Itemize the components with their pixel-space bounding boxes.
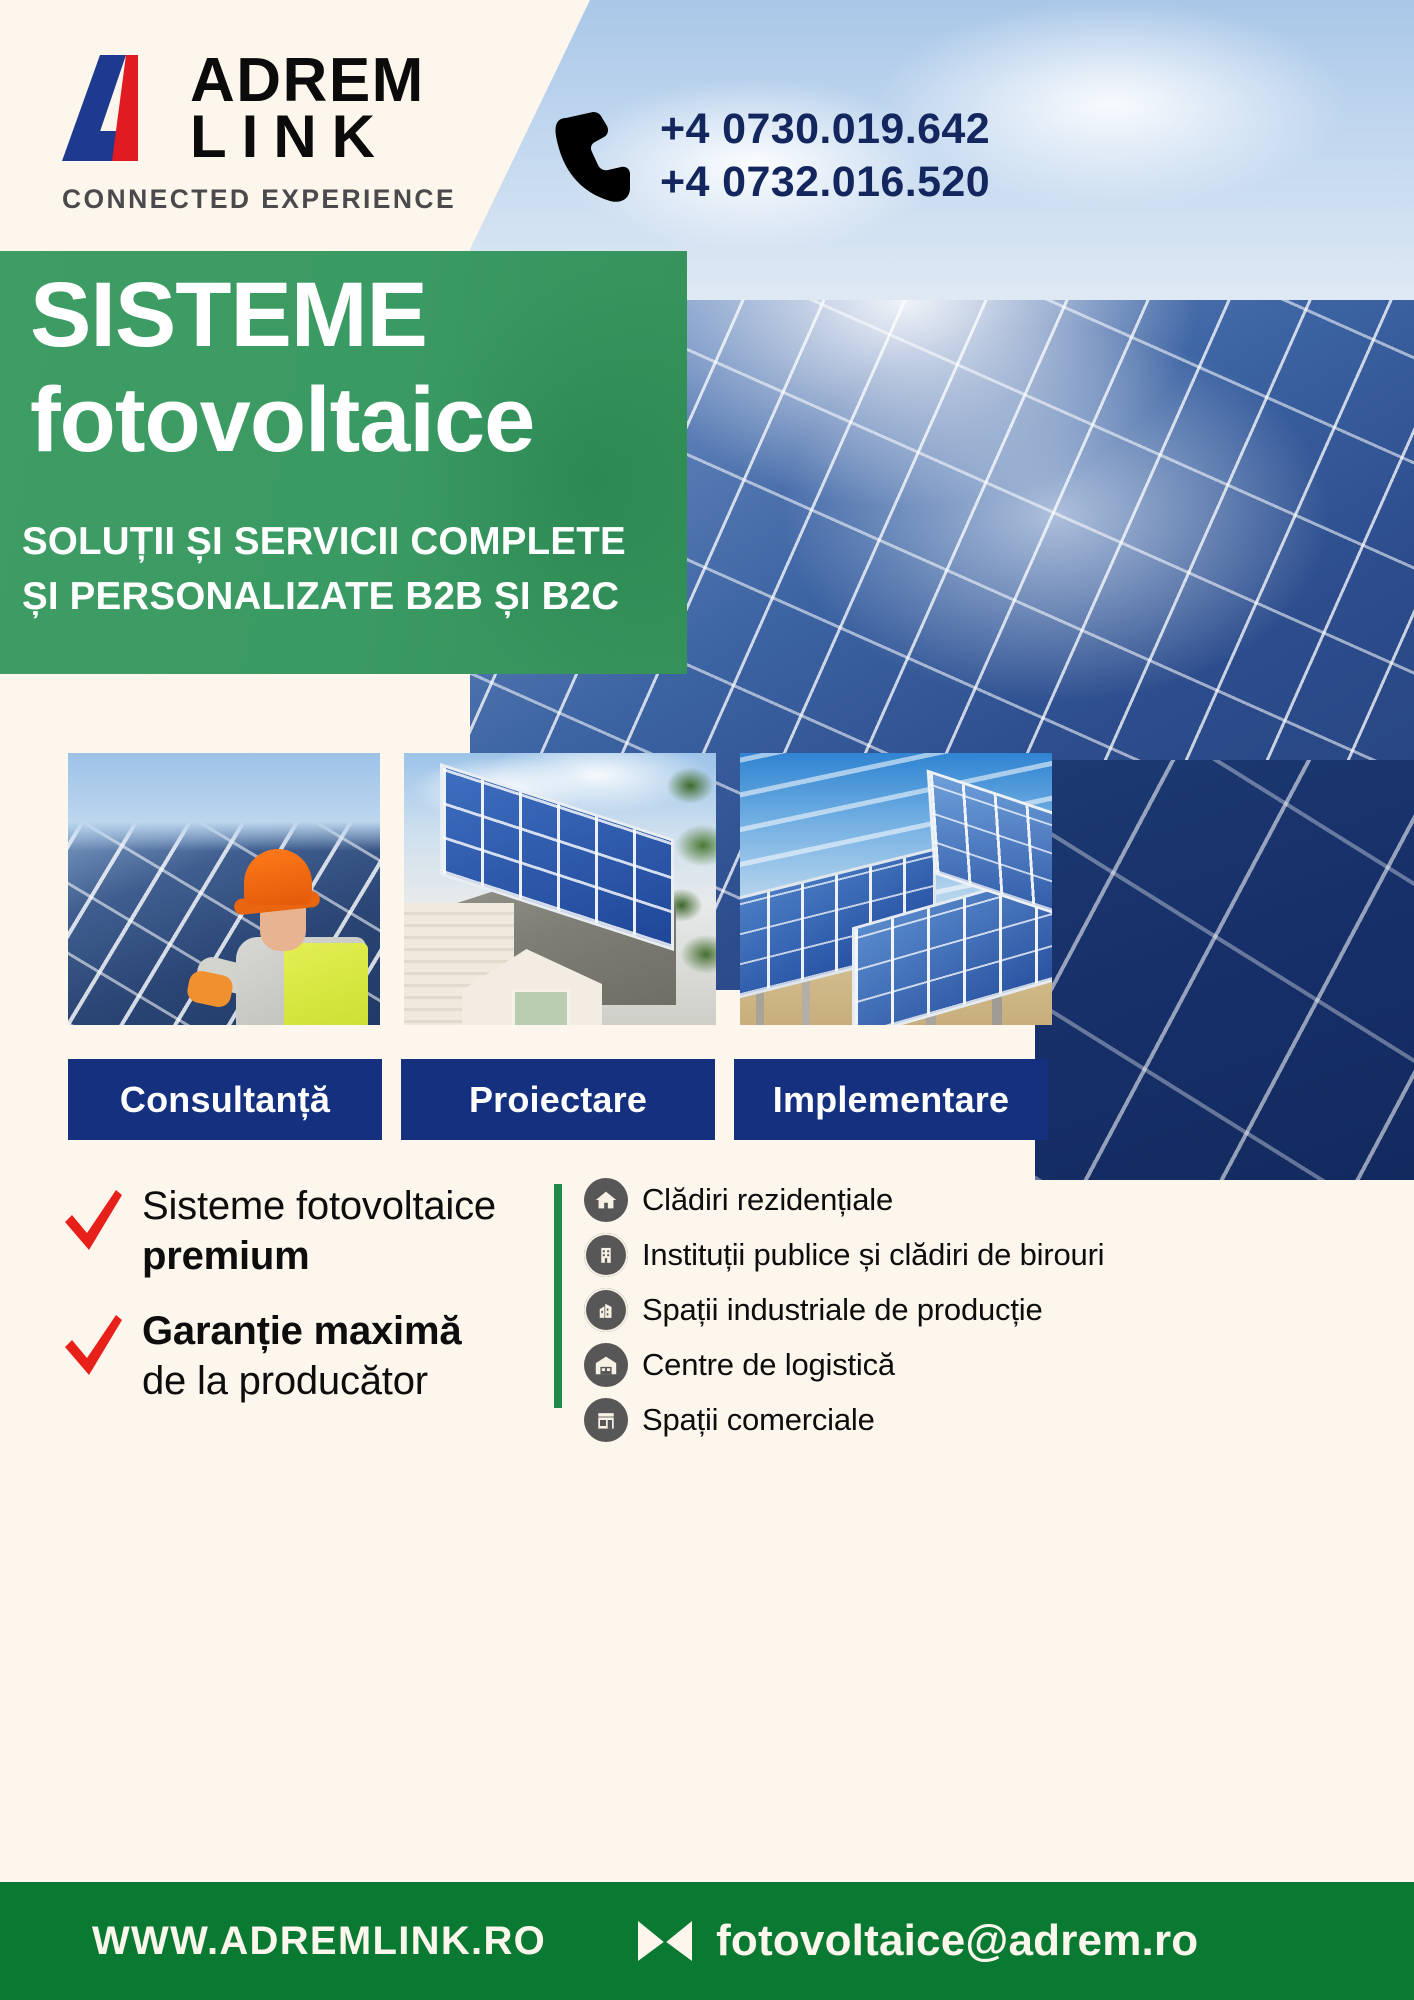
application-label: Clădiri rezidențiale	[642, 1182, 893, 1218]
headline-subtitle: SOLUȚII ȘI SERVICII COMPLETE ȘI PERSONAL…	[22, 515, 626, 624]
application-item-public-offices: Instituții publice și clădiri de birouri	[584, 1233, 1104, 1277]
brand-logo: ADREM LINK CONNECTED EXPERIENCE	[60, 52, 480, 215]
gallery-photo-ground-mounted-solar-farm	[740, 753, 1052, 1025]
house-icon	[584, 1178, 628, 1222]
phone-numbers: +4 0730.019.642 +4 0732.016.520	[660, 105, 990, 207]
footer-email-group: fotovoltaice@adrem.ro	[636, 1916, 1198, 1966]
footer-email[interactable]: fotovoltaice@adrem.ro	[716, 1916, 1198, 1966]
benefit-text: Garanție maximă de la producător	[142, 1307, 461, 1406]
footer-bar: WWW.ADREMLINK.RO fotovoltaice@adrem.ro	[0, 1882, 1414, 2000]
logo-wordmark: ADREM LINK	[190, 52, 425, 164]
phone-number-2[interactable]: +4 0732.016.520	[660, 158, 990, 207]
brand-tagline: CONNECTED EXPERIENCE	[62, 184, 480, 215]
benefit-line-2: de la producător	[142, 1357, 461, 1407]
gallery-photo-worker-installing-solar-panels	[68, 753, 380, 1025]
benefit-item: Garanție maximă de la producător	[62, 1307, 552, 1406]
subtitle-line-2: ȘI PERSONALIZATE B2B ȘI B2C	[22, 570, 626, 625]
applications-list: Clădiri rezidențiale Instituții publice …	[584, 1178, 1104, 1442]
logo-name-line2: LINK	[190, 109, 425, 164]
application-item-industrial: Spații industriale de producție	[584, 1288, 1104, 1332]
blue-panel-wedge	[1035, 760, 1414, 1180]
warehouse-icon	[584, 1343, 628, 1387]
application-label: Spații industriale de producție	[642, 1292, 1043, 1328]
benefit-line-1: Sisteme fotovoltaice	[142, 1182, 496, 1232]
benefit-item: Sisteme fotovoltaice premium	[62, 1182, 552, 1281]
red-check-icon	[62, 1188, 124, 1254]
office-building-icon	[584, 1233, 628, 1277]
headline-line-1: SISTEME	[30, 269, 427, 361]
benefits-list: Sisteme fotovoltaice premium Garanție ma…	[62, 1182, 552, 1432]
application-label: Spații comerciale	[642, 1402, 875, 1438]
service-button-proiectare[interactable]: Proiectare	[401, 1059, 715, 1140]
benefit-line-1: Garanție maximă	[142, 1307, 461, 1357]
subtitle-line-1: SOLUȚII ȘI SERVICII COMPLETE	[22, 515, 626, 570]
phone-icon	[552, 110, 634, 202]
green-vertical-rule	[554, 1184, 562, 1408]
envelope-icon	[636, 1919, 694, 1963]
application-item-commercial: Spații comerciale	[584, 1398, 1104, 1442]
headline-line-2: fotovoltaice	[30, 374, 534, 466]
application-label: Centre de logistică	[642, 1347, 895, 1383]
factory-icon	[584, 1288, 628, 1332]
benefit-line-2: premium	[142, 1232, 496, 1282]
service-button-consultanta[interactable]: Consultanță	[68, 1059, 382, 1140]
adrem-logo-mark	[60, 53, 172, 163]
storefront-icon	[584, 1398, 628, 1442]
gallery-photo-residential-roof-solar-panels	[404, 753, 716, 1025]
service-button-implementare[interactable]: Implementare	[734, 1059, 1048, 1140]
benefit-text: Sisteme fotovoltaice premium	[142, 1182, 496, 1281]
photo-worker-helmet	[244, 849, 312, 905]
application-item-residential: Clădiri rezidențiale	[584, 1178, 1104, 1222]
footer-website[interactable]: WWW.ADREMLINK.RO	[92, 1919, 546, 1964]
logo-name-line1: ADREM	[190, 52, 425, 109]
phone-number-1[interactable]: +4 0730.019.642	[660, 105, 990, 154]
red-check-icon	[62, 1313, 124, 1379]
contact-phone-block: +4 0730.019.642 +4 0732.016.520	[552, 105, 990, 207]
flyer-page: ADREM LINK CONNECTED EXPERIENCE +4 0730.…	[0, 0, 1414, 2000]
service-buttons: Consultanță Proiectare Implementare	[68, 1059, 1048, 1140]
application-label: Instituții publice și clădiri de birouri	[642, 1237, 1104, 1273]
application-item-logistics: Centre de logistică	[584, 1343, 1104, 1387]
applications-section: Clădiri rezidențiale Instituții publice …	[554, 1178, 1104, 1442]
photo-sky	[68, 753, 380, 851]
logo-row: ADREM LINK	[60, 52, 480, 164]
photo-worker-vest	[284, 943, 368, 1025]
photo-house-window	[512, 989, 570, 1025]
gallery	[68, 753, 1052, 1025]
